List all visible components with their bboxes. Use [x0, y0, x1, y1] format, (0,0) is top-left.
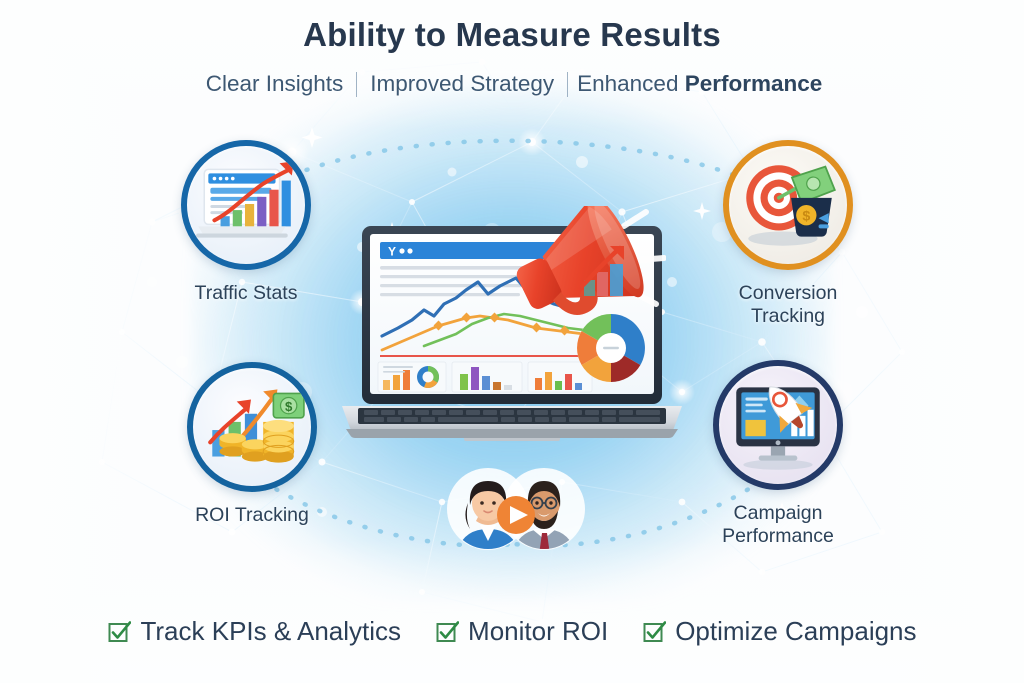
svg-text:$: $ — [285, 399, 293, 414]
infographic-canvas: Ability to Measure Results Clear Insight… — [0, 0, 1024, 683]
checkbox-checked-icon — [107, 620, 131, 644]
monitor-rocket-icon — [713, 360, 843, 490]
subtitle-item-improved-strategy: Improved Strategy — [357, 71, 567, 97]
node-campaign-label-line1: Campaign — [734, 502, 823, 524]
checklist-item-1[interactable]: Monitor ROI — [418, 616, 625, 647]
checklist-item-1-label: Monitor ROI — [468, 616, 608, 647]
subtitle-item-enhanced-performance: Enhanced Performance — [568, 71, 831, 97]
megaphone-icon — [496, 206, 666, 356]
subtitle-separator-1 — [356, 72, 357, 97]
node-conversion-tracking[interactable]: $ Conversion Tracking — [688, 140, 888, 328]
checkbox-checked-icon — [435, 620, 459, 644]
node-roi-tracking[interactable]: $ ROI Tracking — [152, 362, 352, 527]
header: Ability to Measure Results Clear Insight… — [0, 16, 1024, 97]
subtitle-item-clear-insights: Clear Insights — [193, 71, 357, 97]
coins-growth-icon: $ — [187, 362, 317, 492]
node-conversion-tracking-label: Conversion Tracking — [688, 282, 888, 328]
subtitle-enhanced-regular: Enhanced — [577, 71, 685, 96]
node-campaign-performance-label: Campaign Performance — [678, 502, 878, 548]
footer-checklist: Track KPIs & Analytics Monitor ROI Optim… — [0, 616, 1024, 647]
checkbox-checked-icon — [642, 620, 666, 644]
page-title: Ability to Measure Results — [0, 16, 1024, 54]
node-conversion-label-line2: Tracking — [751, 305, 825, 327]
svg-text:$: $ — [802, 208, 810, 224]
target-money-icon: $ — [723, 140, 853, 270]
browser-bar-chart-icon — [181, 140, 311, 270]
subtitle-bar: Clear Insights Improved Strategy Enhance… — [0, 71, 1024, 97]
checklist-item-0-label: Track KPIs & Analytics — [140, 616, 401, 647]
node-traffic-stats-label: Traffic Stats — [146, 282, 346, 305]
node-conversion-label-line1: Conversion — [739, 282, 838, 304]
subtitle-performance-bold: Performance — [685, 71, 823, 96]
people-avatars-icon — [446, 463, 586, 555]
svg-text:Y: Y — [388, 245, 396, 259]
play-button-icon — [497, 496, 535, 534]
checklist-item-2-label: Optimize Campaigns — [675, 616, 916, 647]
node-roi-tracking-label: ROI Tracking — [152, 504, 352, 527]
node-traffic-stats[interactable]: Traffic Stats — [146, 140, 346, 305]
subtitle-separator-2 — [567, 72, 568, 97]
checklist-item-0[interactable]: Track KPIs & Analytics — [90, 616, 418, 647]
checklist-item-2[interactable]: Optimize Campaigns — [625, 616, 933, 647]
node-campaign-performance[interactable]: Campaign Performance — [678, 360, 878, 548]
node-campaign-label-line2: Performance — [722, 525, 834, 547]
